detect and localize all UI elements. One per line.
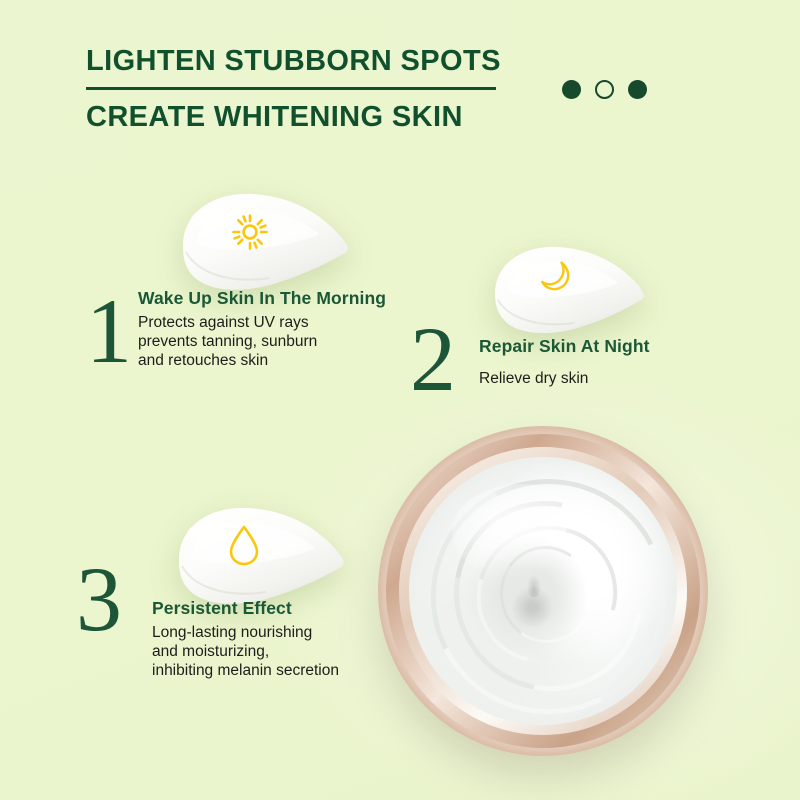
jar-cream-surface	[409, 457, 676, 724]
pagination-dots	[562, 80, 647, 99]
pagination-dot-1[interactable]	[562, 80, 581, 99]
feature-1-title: Wake Up Skin In The Morning	[138, 288, 406, 309]
feature-2-body: Relieve dry skin	[479, 369, 730, 388]
cream-blob-1	[152, 186, 352, 298]
feature-2-title: Repair Skin At Night	[479, 336, 730, 357]
pagination-dot-2[interactable]	[595, 80, 614, 99]
product-jar-image	[378, 426, 708, 756]
headline-block: LIGHTEN STUBBORN SPOTS CREATE WHITENING …	[86, 44, 506, 134]
feature-2: 2 Repair Skin At Night Relieve dry skin	[410, 318, 730, 388]
jar-gloss-highlight	[452, 484, 591, 580]
feature-3: 3 Persistent Effect Long-lasting nourish…	[76, 556, 406, 680]
feature-3-number: 3	[76, 560, 122, 638]
feature-1: 1 Wake Up Skin In The Morning Protects a…	[86, 288, 406, 370]
headline-line-2: CREATE WHITENING SKIN	[86, 100, 506, 134]
headline-line-1: LIGHTEN STUBBORN SPOTS	[86, 44, 506, 78]
pagination-dot-3[interactable]	[628, 80, 647, 99]
feature-1-body: Protects against UV rays prevents tannin…	[138, 313, 406, 370]
feature-2-number: 2	[410, 320, 456, 398]
feature-3-body: Long-lasting nourishing and moisturizing…	[152, 623, 406, 680]
headline-divider	[86, 87, 496, 90]
feature-1-number: 1	[86, 292, 132, 370]
cream-swatch-shape	[152, 186, 352, 298]
feature-3-title: Persistent Effect	[152, 598, 406, 619]
product-poster: LIGHTEN STUBBORN SPOTS CREATE WHITENING …	[0, 0, 800, 800]
